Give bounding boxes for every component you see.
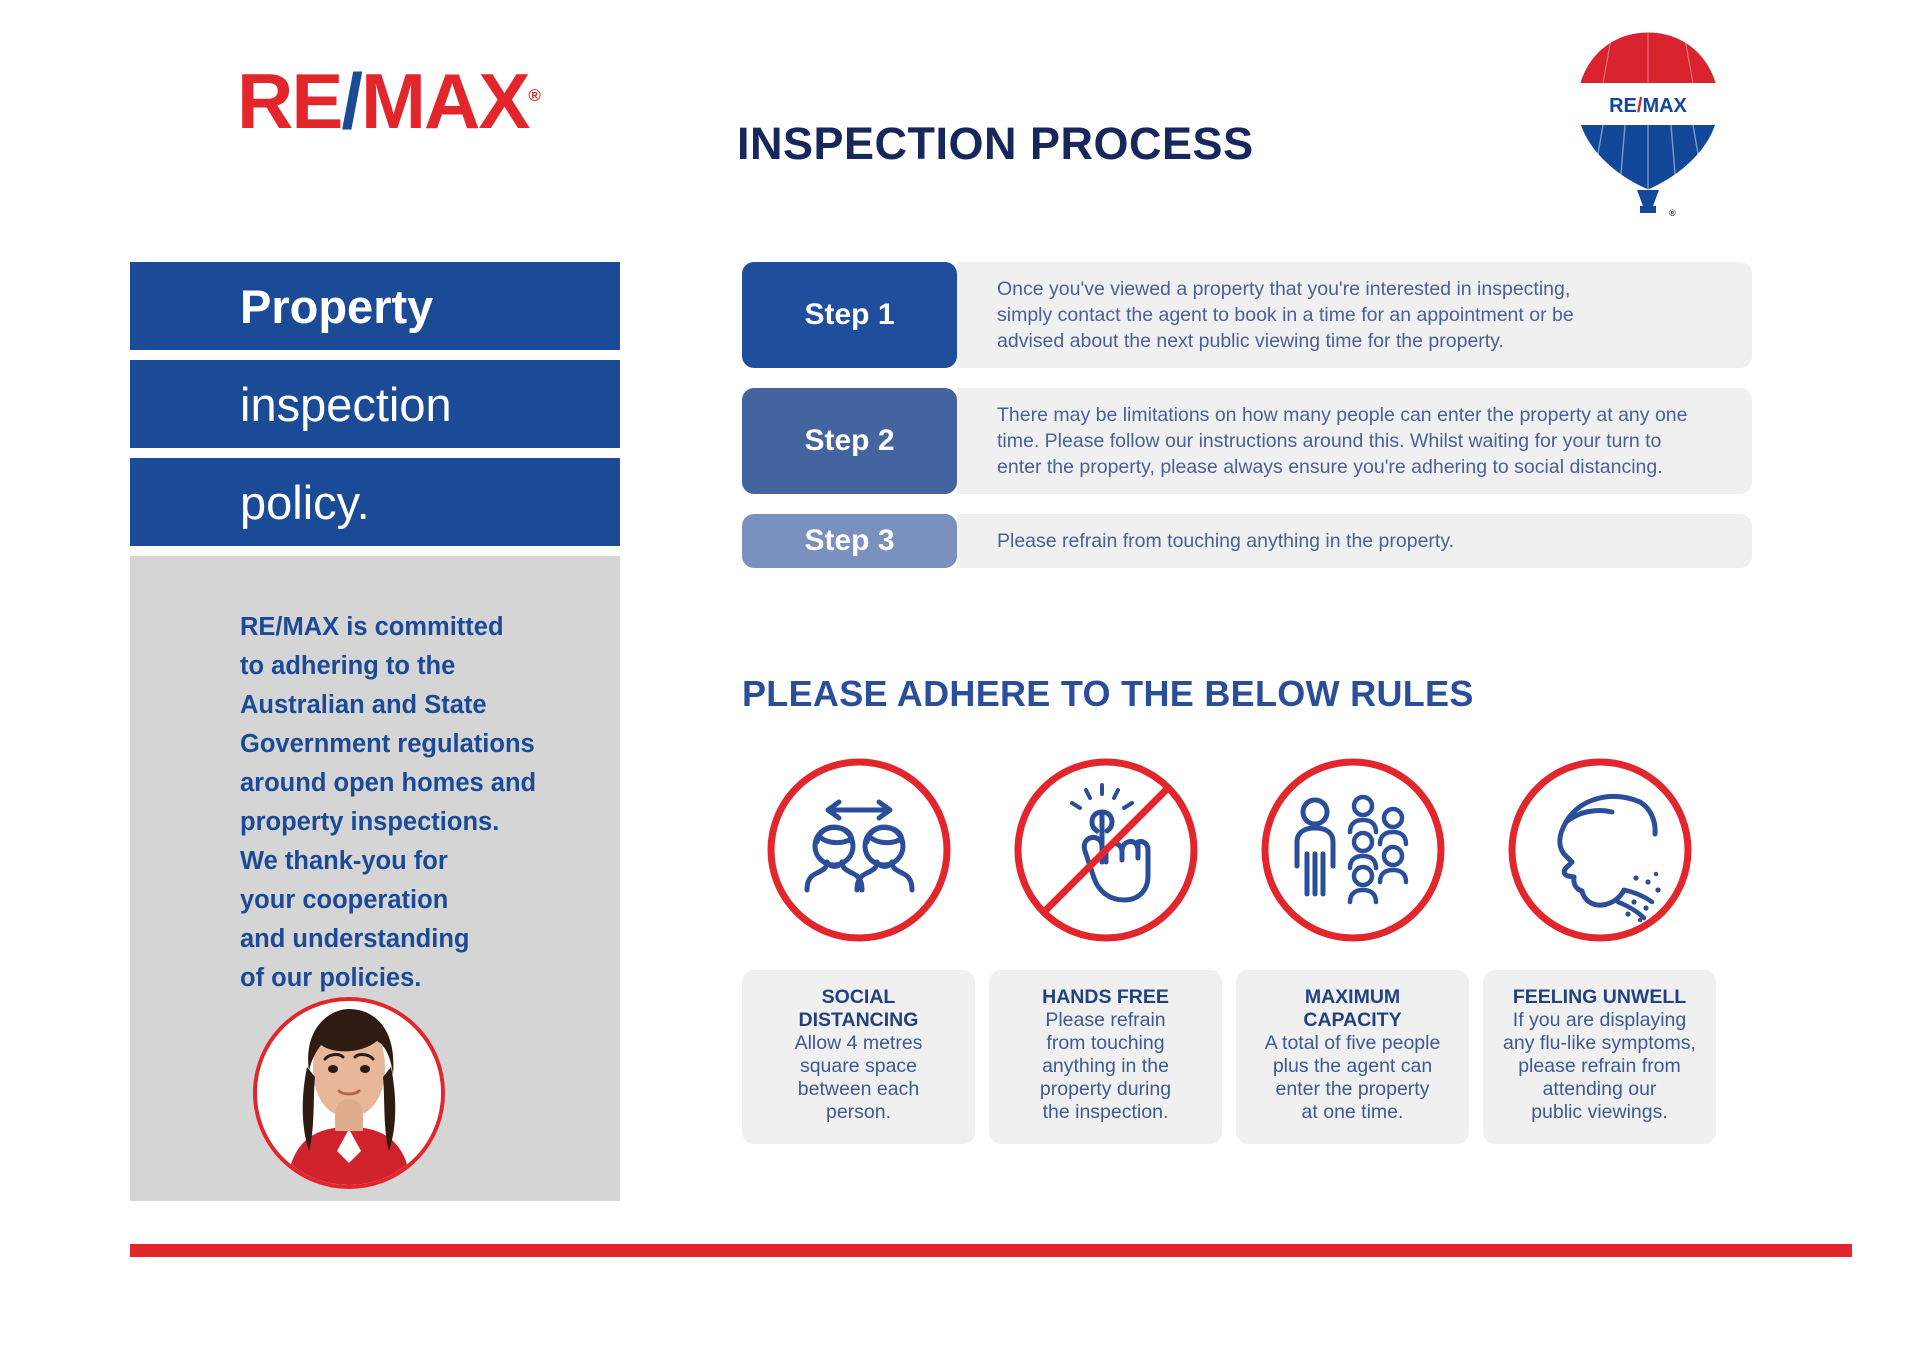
rule-item-maximum-capacity: MAXIMUM CAPACITY A total of five people … — [1236, 750, 1469, 1144]
logo-max-text: MAX — [361, 57, 528, 145]
footer-accent-bar — [130, 1244, 1852, 1257]
step-3-description: Please refrain from touching anything in… — [997, 528, 1454, 554]
step-1-body: Once you've viewed a property that you'r… — [957, 262, 1752, 368]
step-2-body: There may be limitations on how many peo… — [957, 388, 1752, 494]
title-band-policy-label: policy. — [240, 479, 370, 526]
rule-body-social-distancing: Allow 4 metres square space between each… — [754, 1032, 963, 1124]
rule-item-hands-free: HANDS FREE Please refrain from touching … — [989, 750, 1222, 1144]
remax-balloon-logo: RE/MAX ® — [1573, 28, 1723, 228]
logo-re-text: RE — [237, 57, 341, 145]
rules-grid: SOCIAL DISTANCING Allow 4 metres square … — [742, 750, 1752, 1144]
rule-card-maximum-capacity: MAXIMUM CAPACITY A total of five people … — [1236, 970, 1469, 1144]
title-band-inspection-label: inspection — [240, 381, 452, 428]
step-1-description: Once you've viewed a property that you'r… — [997, 276, 1574, 354]
step-row-2: Step 2 There may be limitations on how m… — [742, 388, 1752, 494]
balloon-registered-mark: ® — [1669, 208, 1676, 218]
balloon-logo-text: RE/MAX — [1609, 95, 1687, 117]
title-band-policy: policy. — [130, 458, 620, 546]
step-3-label: Step 3 — [804, 524, 894, 558]
rules-heading: PLEASE ADHERE TO THE BELOW RULES — [742, 673, 1474, 715]
step-1-label: Step 1 — [804, 298, 894, 332]
rule-head-maximum-capacity: MAXIMUM CAPACITY — [1248, 986, 1457, 1032]
maximum-capacity-icon — [1253, 750, 1453, 950]
step-row-1: Step 1 Once you've viewed a property tha… — [742, 262, 1752, 368]
policy-panel: Property inspection policy. RE/MAX is co… — [130, 262, 620, 1201]
title-band-property-label: Property — [240, 283, 433, 330]
agent-avatar — [253, 997, 445, 1189]
step-1-tag: Step 1 — [742, 262, 957, 368]
logo-slash: / — [341, 57, 361, 145]
rule-item-social-distancing: SOCIAL DISTANCING Allow 4 metres square … — [742, 750, 975, 1144]
sneezing-face-icon — [1500, 750, 1700, 950]
inspection-process-poster: RE/MAX® INSPECTION PROCESS RE/M — [0, 0, 1920, 1357]
step-2-label: Step 2 — [804, 424, 894, 458]
step-2-description: There may be limitations on how many peo… — [997, 402, 1687, 480]
rule-card-feeling-unwell: FEELING UNWELL If you are displaying any… — [1483, 970, 1716, 1144]
rule-head-feeling-unwell: FEELING UNWELL — [1495, 986, 1704, 1009]
step-3-tag: Step 3 — [742, 514, 957, 568]
rule-head-hands-free: HANDS FREE — [1001, 986, 1210, 1009]
page-title: INSPECTION PROCESS — [737, 118, 1254, 170]
title-band-inspection: inspection — [130, 360, 620, 448]
step-2-tag: Step 2 — [742, 388, 957, 494]
step-3-body: Please refrain from touching anything in… — [957, 514, 1752, 568]
rule-card-social-distancing: SOCIAL DISTANCING Allow 4 metres square … — [742, 970, 975, 1144]
logo-registered-mark: ® — [528, 86, 541, 105]
remax-logo: RE/MAX® — [237, 62, 541, 140]
policy-statement: RE/MAX is committed to adhering to the A… — [240, 608, 600, 998]
social-distancing-icon — [759, 750, 959, 950]
steps-list: Step 1 Once you've viewed a property tha… — [742, 262, 1752, 588]
title-band-property: Property — [130, 262, 620, 350]
step-row-3: Step 3 Please refrain from touching anyt… — [742, 514, 1752, 568]
policy-text-panel: RE/MAX is committed to adhering to the A… — [130, 556, 620, 1201]
rule-body-feeling-unwell: If you are displaying any flu-like sympt… — [1495, 1009, 1704, 1124]
rule-card-hands-free: HANDS FREE Please refrain from touching … — [989, 970, 1222, 1144]
rule-body-hands-free: Please refrain from touching anything in… — [1001, 1009, 1210, 1124]
no-touching-hand-icon — [1006, 750, 1206, 950]
rule-head-social-distancing: SOCIAL DISTANCING — [754, 986, 963, 1032]
rule-item-feeling-unwell: FEELING UNWELL If you are displaying any… — [1483, 750, 1716, 1144]
rule-body-maximum-capacity: A total of five people plus the agent ca… — [1248, 1032, 1457, 1124]
